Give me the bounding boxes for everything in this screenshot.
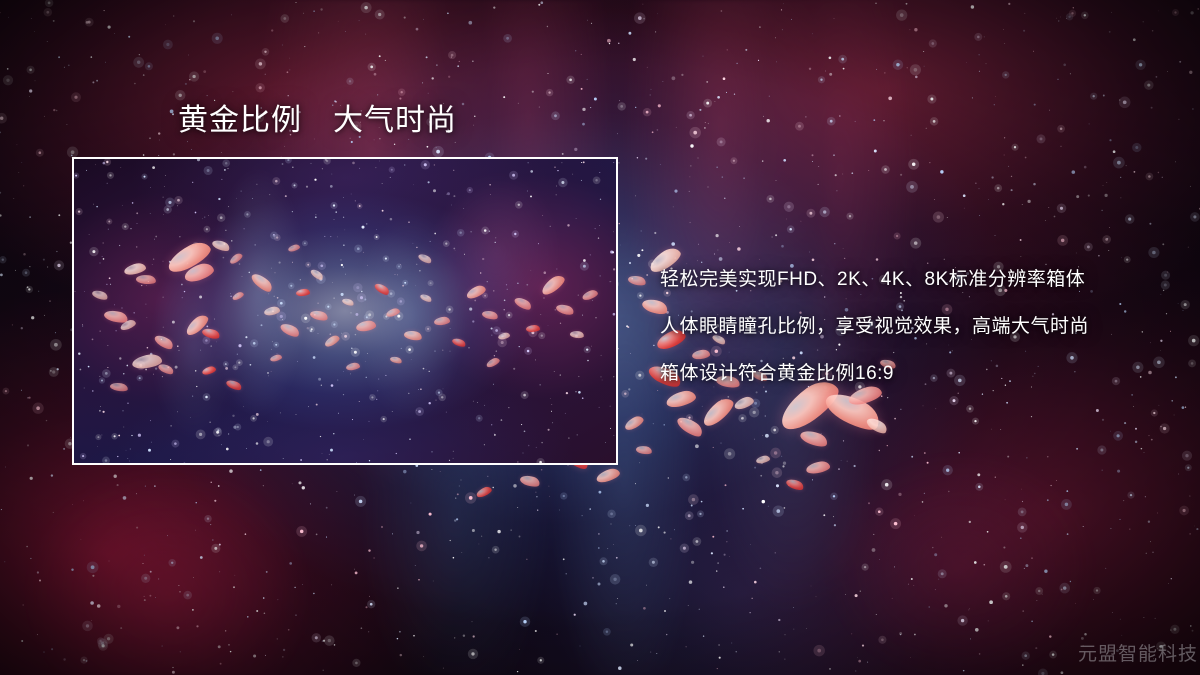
petal [799, 428, 830, 450]
photo-nebula-wisps [74, 159, 616, 463]
petal [595, 467, 621, 485]
watermark: 元盟智能科技 [1078, 639, 1198, 666]
petal [635, 445, 652, 456]
petal [865, 415, 889, 436]
petal [627, 274, 647, 287]
petal [475, 485, 493, 499]
body-line: 箱体设计符合黄金比例16:9 [660, 350, 1180, 397]
slide-canvas: 黄金比例 大气时尚 轻松完美实现FHD、2K、4K、8K标准分辨率箱体 人体眼睛… [0, 0, 1200, 675]
petal [785, 477, 805, 492]
body-text-block: 轻松完美实现FHD、2K、4K、8K标准分辨率箱体 人体眼睛瞳孔比例，享受视觉效… [660, 256, 1180, 397]
petal [733, 395, 755, 411]
petal [805, 460, 831, 475]
petal [519, 473, 541, 488]
petal [623, 414, 645, 432]
page-title: 黄金比例 大气时尚 [178, 103, 457, 139]
petal [699, 394, 737, 429]
body-line: 人体眼睛瞳孔比例，享受视觉效果，高端大气时尚 [660, 303, 1180, 350]
body-line: 轻松完美实现FHD、2K、4K、8K标准分辨率箱体 [660, 256, 1180, 303]
petal [755, 455, 770, 465]
framed-photo [72, 157, 618, 465]
petal [675, 413, 705, 439]
